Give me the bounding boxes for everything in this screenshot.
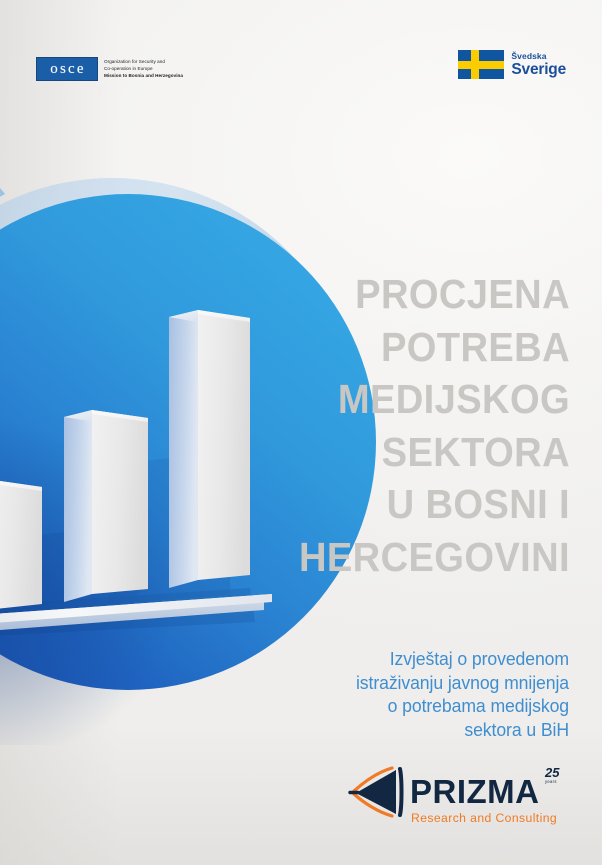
header-logos: osce Organization for Security and Co-op… — [0, 0, 602, 120]
prizma-tagline: Research and Consulting — [411, 811, 557, 825]
sweden-logo: Švedska Sverige — [458, 50, 566, 79]
badge-label: years — [545, 779, 557, 784]
swedish-flag-icon — [458, 50, 504, 79]
cover-title: PROCJENA POTREBA MEDIJSKOG SEKTORA U BOS… — [240, 268, 570, 583]
title-line-3: MEDIJSKOG — [263, 373, 570, 426]
bar-3 — [169, 310, 250, 588]
title-line-4: SEKTORA — [263, 426, 570, 479]
cover-page: osce Organization for Security and Co-op… — [0, 0, 602, 865]
osce-logo: osce Organization for Security and Co-op… — [36, 57, 183, 81]
subtitle-line-3: o potrebama medijskog — [239, 695, 569, 719]
title-line-1: PROCJENA — [263, 268, 570, 321]
sweden-label-bosnian: Švedska — [511, 52, 566, 61]
osce-wordmark-text: osce — [48, 62, 85, 77]
title-line-2: POTREBA — [263, 321, 570, 374]
osce-line-3: Mission to Bosnia and Herzegovina — [104, 72, 183, 79]
prizma-logo: PRIZMA Research and Consulting 25 years — [348, 762, 566, 830]
title-line-5: U BOSNI I — [263, 478, 570, 531]
subtitle-line-4: sektora u BiH — [239, 719, 569, 743]
bar-2 — [64, 410, 148, 602]
sweden-logo-text: Švedska Sverige — [511, 52, 566, 78]
subtitle-line-2: istraživanju javnog mnijenja — [239, 672, 569, 696]
prizma-prism-icon — [350, 768, 402, 816]
bar-1 — [0, 479, 42, 617]
cover-subtitle: Izvještaj o provedenom istraživanju javn… — [229, 648, 569, 742]
sweden-label-swedish: Sverige — [511, 62, 566, 78]
osce-line-1: Organization for Security and — [104, 58, 183, 65]
badge-number: 25 — [544, 765, 560, 780]
osce-line-2: Co-operation in Europe — [104, 65, 183, 72]
osce-logo-text: Organization for Security and Co-operati… — [104, 57, 183, 79]
prizma-anniversary-badge: 25 years — [544, 765, 560, 784]
prizma-wordmark: PRIZMA — [410, 773, 540, 810]
subtitle-line-1: Izvještaj o provedenom — [239, 648, 569, 672]
title-line-6: HERCEGOVINI — [263, 531, 570, 584]
osce-wordmark-box: osce — [36, 57, 98, 81]
